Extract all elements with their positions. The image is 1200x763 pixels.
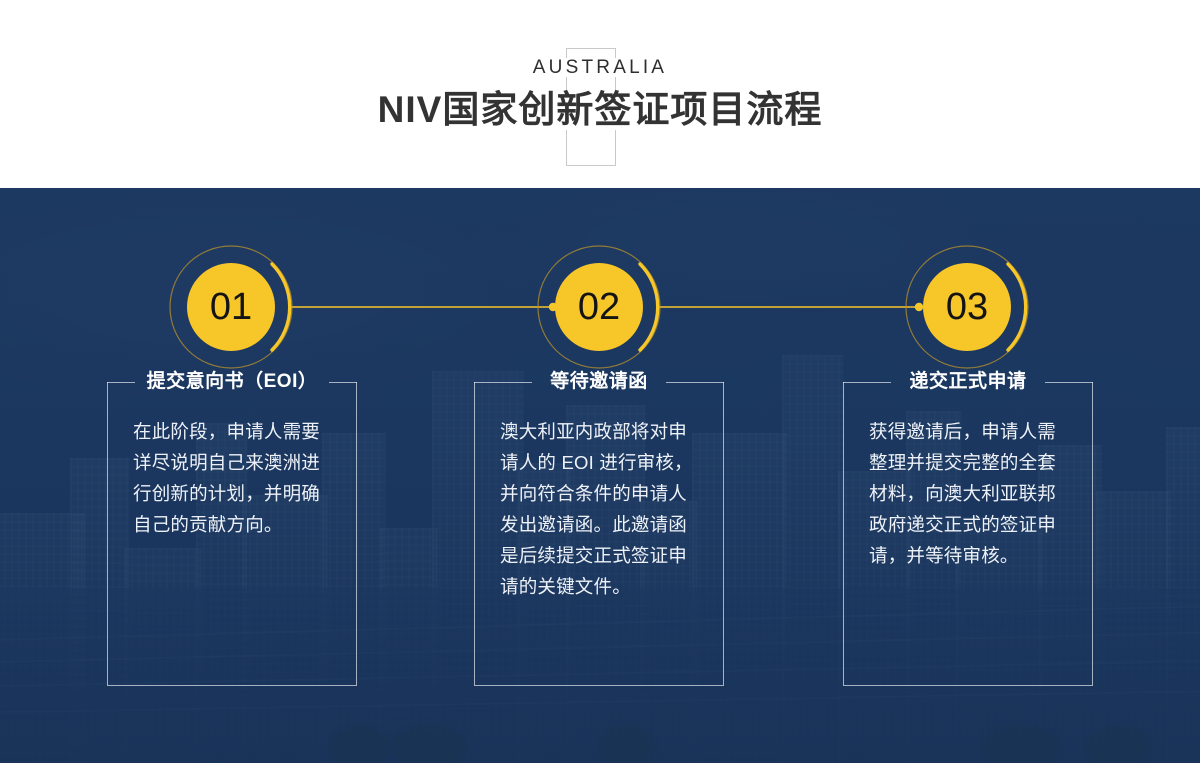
card-body-03: 获得邀请后，申请人需整理并提交完整的全套材料，向澳大利亚联邦政府递交正式的签证申…	[869, 416, 1071, 571]
step-card-01: 提交意向书（EOI） 在此阶段，申请人需要详尽说明自己来澳洲进行创新的计划，并明…	[107, 364, 357, 686]
infographic-page: AUSTRALIA NIV国家创新签证项目流程	[0, 0, 1200, 763]
step-number-01: 01	[210, 288, 252, 326]
card-title-02: 等待邀请函	[550, 364, 648, 400]
step-number-03: 03	[946, 288, 988, 326]
card-top-rule-right-01	[329, 382, 357, 383]
arrow-connector-icon	[288, 303, 557, 311]
card-top-rule-right-03	[1045, 382, 1093, 383]
card-top-rule-right-02	[666, 382, 724, 383]
card-top-rule-left-02	[474, 382, 532, 383]
card-body-02: 澳大利亚内政部将对申请人的 EOI 进行审核，并向符合条件的申请人发出邀请函。此…	[500, 416, 702, 602]
step-circle-03: 03	[923, 263, 1011, 351]
card-top-rule-left-01	[107, 382, 135, 383]
step-number-02: 02	[578, 288, 620, 326]
header-text-group: AUSTRALIA NIV国家创新签证项目流程	[0, 0, 1200, 188]
stage-background: 01 02 03 提交意向书（EOI） 在此阶	[0, 188, 1200, 763]
step-circle-01: 01	[187, 263, 275, 351]
step-card-03: 递交正式申请 获得邀请后，申请人需整理并提交完整的全套材料，向澳大利亚联邦政府递…	[843, 364, 1093, 686]
header-band: AUSTRALIA NIV国家创新签证项目流程	[0, 0, 1200, 188]
arrow-connector-icon	[656, 303, 923, 311]
card-title-03: 递交正式申请	[909, 364, 1026, 400]
step-circle-02: 02	[555, 263, 643, 351]
card-body-01: 在此阶段，申请人需要详尽说明自己来澳洲进行创新的计划，并明确自己的贡献方向。	[133, 416, 335, 540]
page-title: NIV国家创新签证项目流程	[370, 90, 831, 131]
step-card-02: 等待邀请函 澳大利亚内政部将对申请人的 EOI 进行审核，并向符合条件的申请人发…	[474, 364, 724, 686]
header-kicker: AUSTRALIA	[523, 58, 677, 77]
card-title-01: 提交意向书（EOI）	[147, 364, 318, 400]
card-top-rule-left-03	[843, 382, 891, 383]
